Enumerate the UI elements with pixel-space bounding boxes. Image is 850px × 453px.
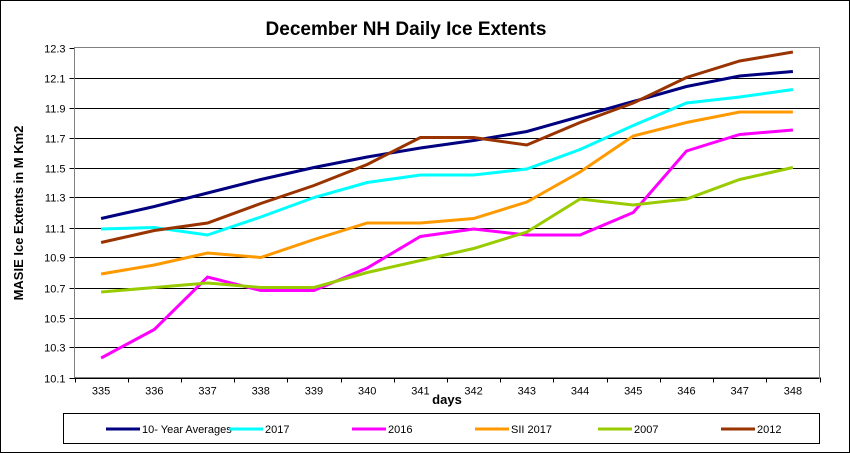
y-tick-label: 11.1 bbox=[45, 224, 66, 236]
y-tick-label: 10.1 bbox=[44, 374, 65, 386]
plot-area-border bbox=[75, 48, 820, 378]
x-tick-label: 338 bbox=[252, 386, 270, 398]
x-tick-label: 336 bbox=[145, 386, 163, 398]
y-tick-label: 11.5 bbox=[45, 164, 66, 176]
y-axis-tick-labels: 10.110.310.510.710.911.111.311.511.711.9… bbox=[44, 44, 65, 386]
gridlines bbox=[70, 49, 820, 379]
x-tick-label: 335 bbox=[92, 386, 110, 398]
x-axis-title: days bbox=[432, 392, 462, 407]
y-tick-label: 10.9 bbox=[44, 253, 65, 265]
x-tick-label: 342 bbox=[464, 386, 482, 398]
chart-container: December NH Daily Ice Extents MASIE Ice … bbox=[0, 0, 850, 453]
legend-label-2017: 2017 bbox=[265, 424, 289, 436]
series-line-2016 bbox=[101, 130, 793, 358]
chart-title: December NH Daily Ice Extents bbox=[266, 19, 547, 40]
data-series bbox=[101, 52, 793, 358]
y-tick-label: 11.3 bbox=[45, 193, 66, 205]
y-tick-label: 10.5 bbox=[44, 314, 65, 326]
y-axis-title: MASIE Ice Extents in M Km2 bbox=[11, 126, 26, 301]
x-tick-label: 347 bbox=[730, 386, 748, 398]
y-tick-label: 12.3 bbox=[44, 44, 65, 56]
x-tick-label: 345 bbox=[624, 386, 642, 398]
y-tick-label: 10.7 bbox=[44, 284, 65, 296]
x-tick-label: 339 bbox=[305, 386, 323, 398]
legend-label-10-year-averages: 10- Year Averages bbox=[142, 424, 232, 436]
legend-label-2007: 2007 bbox=[634, 424, 658, 436]
x-tick-label: 344 bbox=[571, 386, 589, 398]
x-tick-label: 348 bbox=[784, 386, 802, 398]
legend-label-2012: 2012 bbox=[757, 424, 781, 436]
y-tick-label: 10.3 bbox=[44, 343, 65, 355]
x-tick-label: 341 bbox=[411, 386, 429, 398]
x-tick-label: 340 bbox=[358, 386, 376, 398]
x-tick-label: 346 bbox=[677, 386, 695, 398]
x-tick-label: 343 bbox=[518, 386, 536, 398]
x-tick-label: 337 bbox=[198, 386, 216, 398]
legend-label-2016: 2016 bbox=[388, 424, 412, 436]
y-tick-label: 12.1 bbox=[44, 74, 65, 86]
series-line-2012 bbox=[101, 52, 793, 243]
series-line-2007 bbox=[101, 168, 793, 293]
legend-label-sii-2017: SII 2017 bbox=[511, 424, 552, 436]
series-line-2017 bbox=[101, 90, 793, 236]
ice-extent-line-chart: December NH Daily Ice Extents MASIE Ice … bbox=[1, 1, 850, 453]
y-tick-label: 11.9 bbox=[45, 104, 66, 116]
y-tick-label: 11.7 bbox=[45, 134, 66, 146]
